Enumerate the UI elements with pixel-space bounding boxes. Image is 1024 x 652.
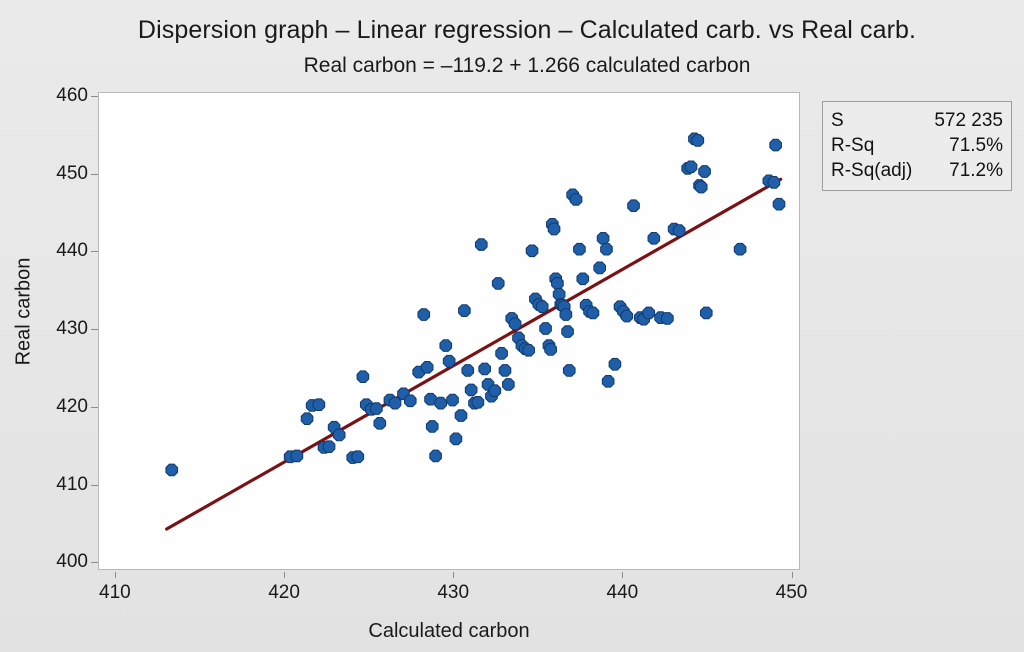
scatter-point — [563, 365, 575, 377]
scatter-point — [609, 358, 621, 370]
scatter-point — [435, 397, 447, 409]
scatter-point — [166, 464, 178, 476]
scatter-point — [499, 365, 511, 377]
scatter-point — [548, 223, 560, 235]
scatter-point — [450, 433, 462, 445]
x-axis-tick-mark — [453, 572, 454, 578]
scatter-points-group — [166, 133, 785, 476]
scatter-point — [601, 243, 613, 255]
x-axis-tick-labels: 410420430440450 — [98, 572, 800, 606]
scatter-point — [695, 181, 707, 193]
scatter-point — [496, 348, 508, 360]
scatter-point — [443, 355, 455, 367]
scatter-point — [426, 421, 438, 433]
scatter-point — [291, 450, 303, 462]
scatter-point — [577, 273, 589, 285]
scatter-point — [594, 262, 606, 274]
x-axis-tick-mark — [792, 572, 793, 578]
scatter-point — [462, 365, 474, 377]
stats-row: R-Sq(adj)71.2% — [831, 158, 1003, 183]
scatter-point — [770, 139, 782, 151]
chart-subtitle: Real carbon = –119.2 + 1.266 calculated … — [0, 54, 1024, 78]
scatter-point — [648, 233, 660, 245]
scatter-point — [673, 225, 685, 237]
stats-value: 71.2% — [939, 158, 1003, 183]
scatter-point — [523, 344, 535, 356]
stats-row: S572 235 — [831, 108, 1003, 133]
scatter-point — [313, 399, 325, 411]
x-axis-tick-mark — [115, 572, 116, 578]
scatter-point — [418, 309, 430, 321]
scatter-point — [455, 410, 467, 422]
y-axis-tick-mark — [91, 407, 98, 408]
scatter-point — [536, 301, 548, 313]
scatter-point — [700, 307, 712, 319]
scatter-point — [699, 166, 711, 178]
scatter-point — [479, 363, 491, 375]
scatter-point — [602, 376, 614, 388]
y-axis-tick-mark — [91, 562, 98, 563]
y-axis-tick-mark — [91, 485, 98, 486]
scatter-point — [404, 395, 416, 407]
scatter-point — [685, 161, 697, 173]
scatter-point — [734, 243, 746, 255]
scatter-point — [545, 344, 557, 356]
scatter-point — [301, 413, 313, 425]
scatter-point — [489, 385, 501, 397]
scatter-point — [574, 243, 586, 255]
scatter-point — [662, 313, 674, 325]
scatter-point — [509, 318, 521, 330]
y-axis-tick-mark — [91, 96, 98, 97]
regression-fit-line — [167, 179, 781, 529]
x-axis-title: Calculated carbon — [98, 620, 800, 643]
scatter-point — [323, 441, 335, 453]
x-axis-tick-label: 450 — [762, 582, 822, 604]
scatter-point — [560, 309, 572, 321]
y-axis-tick-mark — [91, 174, 98, 175]
scatter-point — [374, 418, 386, 430]
y-axis-title: Real carbon — [13, 222, 36, 402]
scatter-point — [570, 194, 582, 206]
scatter-point — [526, 245, 538, 257]
x-axis-tick-label: 420 — [254, 582, 314, 604]
scatter-point — [465, 384, 477, 396]
scatter-point — [773, 198, 785, 210]
scatter-point — [440, 340, 452, 352]
scatter-point — [621, 310, 633, 322]
scatter-point — [562, 326, 574, 338]
scatter-point — [472, 397, 484, 409]
scatter-point — [587, 307, 599, 319]
x-axis-tick-label: 440 — [592, 582, 652, 604]
scatter-point — [643, 307, 655, 319]
scatter-point — [692, 135, 704, 147]
scatter-point — [371, 403, 383, 415]
y-axis-tick-mark — [91, 329, 98, 330]
scatter-point — [492, 278, 504, 290]
y-axis-tick-mark — [91, 251, 98, 252]
scatter-point — [421, 362, 433, 374]
scatter-point — [503, 379, 515, 391]
scatter-plot-svg — [99, 93, 801, 571]
scatter-point — [552, 278, 564, 290]
chart-canvas: Dispersion graph – Linear regression – C… — [0, 0, 1024, 652]
x-axis-tick-mark — [284, 572, 285, 578]
scatter-point — [768, 177, 780, 189]
x-axis-tick-label: 430 — [423, 582, 483, 604]
scatter-point — [540, 323, 552, 335]
chart-title: Dispersion graph – Linear regression – C… — [0, 16, 1024, 45]
stats-value: 71.5% — [939, 133, 1003, 158]
x-axis-tick-mark — [622, 572, 623, 578]
scatter-point — [352, 451, 364, 463]
scatter-point — [430, 450, 442, 462]
scatter-point — [389, 397, 401, 409]
stats-label: S — [831, 108, 844, 133]
scatter-point — [447, 394, 459, 406]
x-axis-tick-label: 410 — [85, 582, 145, 604]
stats-label: R-Sq — [831, 133, 874, 158]
scatter-point — [333, 429, 345, 441]
stats-row: R-Sq71.5% — [831, 133, 1003, 158]
scatter-point — [597, 233, 609, 245]
stats-value: 572 235 — [924, 108, 1003, 133]
stats-label: R-Sq(adj) — [831, 158, 912, 183]
scatter-point — [459, 305, 471, 317]
regression-stats-box: S572 235R-Sq71.5%R-Sq(adj)71.2% — [822, 101, 1012, 191]
scatter-point — [475, 239, 487, 251]
scatter-point — [357, 371, 369, 383]
plot-area — [98, 92, 800, 570]
y-axis-tick-marks — [30, 92, 100, 570]
scatter-point — [628, 200, 640, 212]
